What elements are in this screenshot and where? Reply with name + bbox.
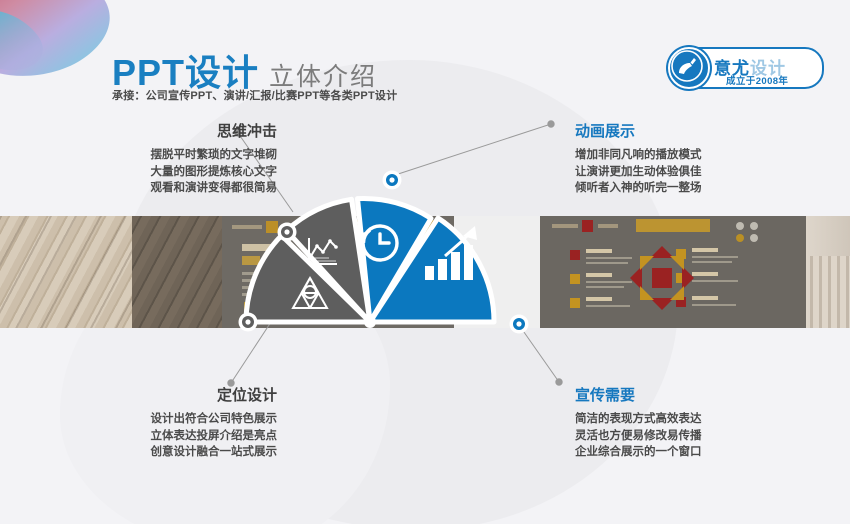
node-top-left[interactable] [278,223,297,242]
callout-line: 摆脱平时繁琐的文字堆砌 [62,147,277,164]
node-top-right[interactable] [383,171,402,190]
callout-line: 企业综合展示的一个窗口 [575,444,790,461]
callout-line: 创意设计融合一站式展示 [62,444,277,461]
callout-line: 让演讲更加生动体验俱佳 [575,164,790,181]
callout-bottom-right: 宣传需要 简洁的表现方式高效表达 灵活也方便易修改易传播 企业综合展示的一个窗口 [575,384,790,461]
callout-bottom-left: 定位设计 设计出符合公司特色展示 立体表达投屏介绍是亮点 创意设计融合一站式展示 [62,384,277,461]
node-bottom-right[interactable] [510,315,529,334]
callout-line: 灵活也方便易修改易传播 [575,428,790,445]
callout-line: 立体表达投屏介绍是亮点 [62,428,277,445]
callout-line: 观看和演讲变得都很简易 [62,180,277,197]
callout-heading: 定位设计 [62,384,277,405]
node-bottom-left[interactable] [239,313,258,332]
callout-heading: 思维冲击 [62,120,277,141]
callout-line: 增加非同凡响的播放模式 [575,147,790,164]
node-center [364,316,376,328]
callout-line: 简洁的表现方式高效表达 [575,411,790,428]
callout-line: 设计出符合公司特色展示 [62,411,277,428]
fan-diagram [235,160,535,340]
callout-top-right: 动画展示 增加非同凡响的播放模式 让演讲更加生动体验俱佳 倾听者入神的听完一整场 [575,120,790,197]
slide-canvas: PPT设计立体介绍 承接：公司宣传PPT、演讲/汇报/比赛PPT等各类PPT设计… [0,0,850,524]
callout-line: 倾听者入神的听完一整场 [575,180,790,197]
callout-heading: 动画展示 [575,120,790,141]
callout-heading: 宣传需要 [575,384,790,405]
callout-top-left: 思维冲击 摆脱平时繁琐的文字堆砌 大量的图形提炼核心文字 观看和演讲变得都很简易 [62,120,277,197]
callout-line: 大量的图形提炼核心文字 [62,164,277,181]
